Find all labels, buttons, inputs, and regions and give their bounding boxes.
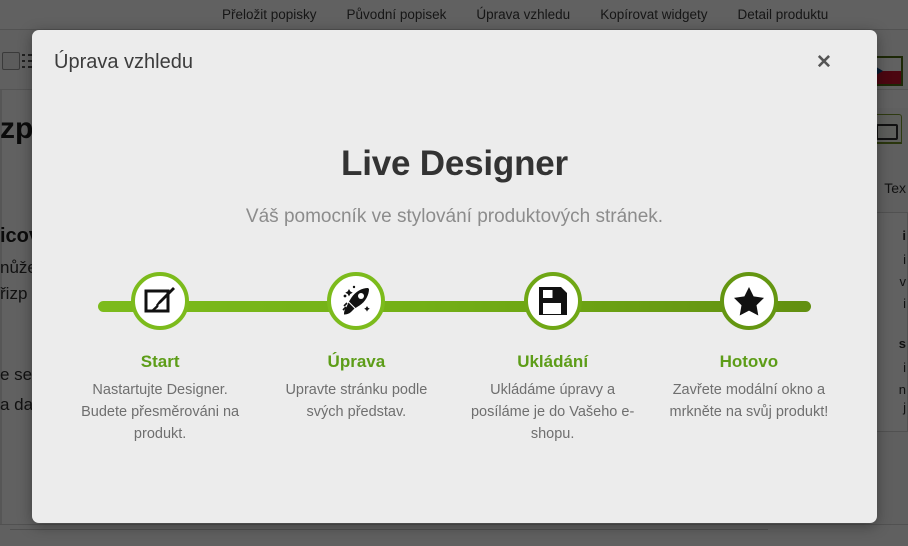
- step-hotovo[interactable]: Hotovo Zavřete modální okno a mrkněte na…: [651, 272, 847, 423]
- stepper-steps: Start Nastartujte Designer. Budete přesm…: [62, 272, 847, 445]
- step-ukladani[interactable]: Ukládání Ukládáme úpravy a posíláme je d…: [455, 272, 651, 445]
- step-2-label: Úprava: [328, 352, 386, 372]
- step-1-description: Nastartujte Designer. Budete přesměrován…: [73, 379, 248, 445]
- modal-body: Live Designer Váš pomocník ve stylování …: [32, 94, 877, 352]
- step-2-description: Upravte stránku podle svých představ.: [269, 379, 444, 423]
- step-1-circle: [131, 272, 189, 330]
- modal-header: Úprava vzhledu ✕: [32, 30, 877, 94]
- step-uprava[interactable]: Úprava Upravte stránku podle svých předs…: [258, 272, 454, 423]
- close-icon[interactable]: ✕: [813, 51, 835, 73]
- progress-stepper: Start Nastartujte Designer. Budete přesm…: [62, 272, 847, 352]
- modal-title: Úprava vzhledu: [54, 51, 193, 74]
- design-brush-icon: [143, 284, 177, 318]
- rocket-icon: [339, 284, 373, 318]
- step-1-label: Start: [141, 352, 180, 372]
- step-3-label: Ukládání: [517, 352, 588, 372]
- step-3-description: Ukládáme úpravy a posíláme je do Vašeho …: [465, 379, 640, 445]
- step-2-circle: [327, 272, 385, 330]
- live-designer-modal: Úprava vzhledu ✕ Live Designer Váš pomoc…: [32, 30, 877, 523]
- step-3-circle: [524, 272, 582, 330]
- step-4-label: Hotovo: [720, 352, 779, 372]
- step-start[interactable]: Start Nastartujte Designer. Budete přesm…: [62, 272, 258, 445]
- hero-title: Live Designer: [62, 144, 847, 184]
- floppy-disk-save-icon: [536, 284, 570, 318]
- star-icon: [732, 284, 766, 318]
- step-4-circle: [720, 272, 778, 330]
- step-4-description: Zavřete modální okno a mrkněte na svůj p…: [661, 379, 836, 423]
- hero-subtitle: Váš pomocník ve stylování produktových s…: [62, 206, 847, 228]
